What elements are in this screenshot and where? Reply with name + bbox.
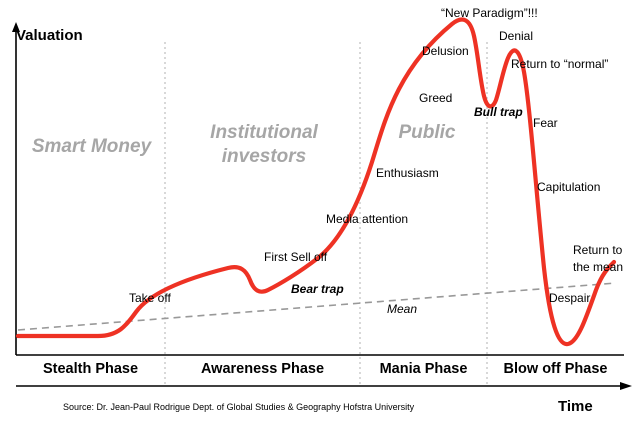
annotation-delusion: Delusion	[422, 45, 469, 59]
annotation-first-sell-off: First Sell off	[264, 251, 327, 265]
annotation-return-to-normal: Return to “normal”	[511, 58, 608, 72]
annotation-greed: Greed	[419, 92, 452, 106]
annotation-take-off: Take off	[129, 292, 171, 306]
x-axis-arrow	[620, 382, 632, 390]
phase-label-mania: Mania Phase	[360, 361, 487, 378]
source-note: Source: Dr. Jean-Paul Rodrigue Dept. of …	[63, 402, 414, 412]
annotation-despair: Despair	[549, 292, 590, 306]
annotation-denial: Denial	[499, 30, 533, 44]
annotation-enthusiasm: Enthusiasm	[376, 167, 439, 181]
annotation-fear: Fear	[533, 117, 558, 131]
x-axis-title: Time	[558, 398, 593, 415]
phase-label-awareness: Awareness Phase	[165, 361, 360, 378]
stage-label-institutional-line1: Institutional	[178, 122, 350, 144]
stage-label-institutional-line2: investors	[178, 146, 350, 168]
annotation-media-attention: Media attention	[326, 213, 408, 227]
annotation-return-to-mean-line2: the mean	[573, 261, 623, 275]
annotation-bull-trap: Bull trap	[474, 106, 523, 120]
annotation-return-to-mean-line1: Return to	[573, 244, 622, 258]
annotation-mean: Mean	[387, 303, 417, 317]
annotation-capitulation: Capitulation	[537, 181, 600, 195]
bubble-stages-chart: Valuation Time Smart Money Institutional…	[0, 0, 640, 429]
y-axis-title: Valuation	[16, 27, 83, 44]
annotation-bear-trap: Bear trap	[291, 283, 344, 297]
annotation-new-paradigm: “New Paradigm”!!!	[441, 7, 538, 21]
stage-label-smart-money: Smart Money	[24, 136, 159, 158]
stage-label-public: Public	[368, 122, 486, 144]
phase-label-stealth: Stealth Phase	[16, 361, 165, 378]
phase-label-blowoff: Blow off Phase	[487, 361, 624, 378]
